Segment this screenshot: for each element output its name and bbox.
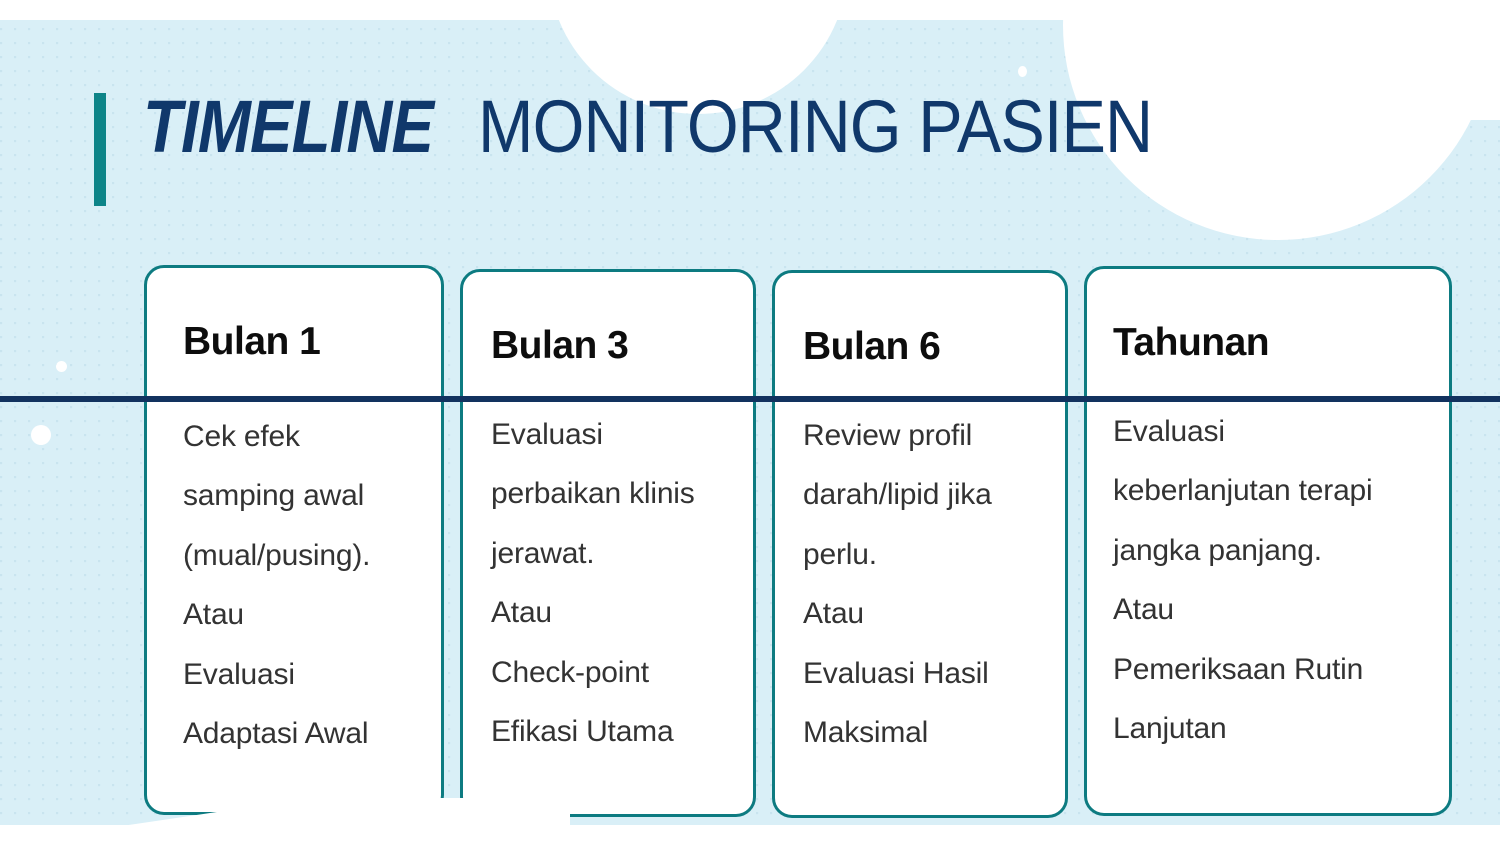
- card-body: Review profil darah/lipid jika perlu. At…: [775, 368, 1065, 762]
- decorative-dot-left-upper: [56, 361, 67, 372]
- card-body: Evaluasi keberlanjutan terapi jangka pan…: [1087, 364, 1449, 758]
- title-accent-bar: [94, 93, 106, 206]
- title-emphasis: TIMELINE: [143, 90, 433, 164]
- card-body: Evaluasi perbaikan klinis jerawat. Atau …: [463, 367, 753, 761]
- title-text: TIMELINE MONITORING PASIEN: [143, 90, 1227, 164]
- timeline-card-bulan-6[interactable]: Bulan 6 Review profil darah/lipid jika p…: [772, 270, 1068, 818]
- decorative-dot-left-lower: [31, 425, 51, 445]
- timeline-card-tahunan[interactable]: Tahunan Evaluasi keberlanjutan terapi ja…: [1084, 266, 1452, 816]
- card-title: Bulan 1: [147, 322, 441, 363]
- card-body: Cek efek samping awal (mual/pusing). Ata…: [147, 363, 441, 763]
- timeline-card-bulan-1[interactable]: Bulan 1 Cek efek samping awal (mual/pusi…: [144, 265, 444, 815]
- card-title: Bulan 3: [463, 326, 753, 367]
- decorative-dot-top: [1018, 66, 1027, 77]
- timeline-rule: [0, 396, 1500, 402]
- page-title: TIMELINE MONITORING PASIEN: [94, 90, 1227, 206]
- bottom-white-band: [0, 825, 1500, 844]
- timeline-card-bulan-3[interactable]: Bulan 3 Evaluasi perbaikan klinis jerawa…: [460, 269, 756, 817]
- card-title: Tahunan: [1087, 323, 1449, 364]
- card-title: Bulan 6: [775, 327, 1065, 368]
- slide-canvas: TIMELINE MONITORING PASIEN Bulan 1 Cek e…: [0, 0, 1500, 844]
- title-remainder: MONITORING PASIEN: [478, 90, 1152, 164]
